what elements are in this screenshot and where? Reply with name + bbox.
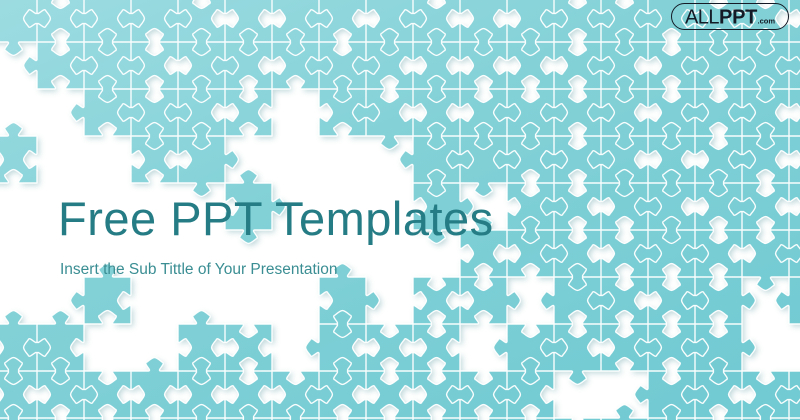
allppt-logo-text: ALL PPT .com xyxy=(685,7,775,27)
logo-all-text: ALL xyxy=(685,7,719,27)
title-block: Free PPT Templates Insert the Sub Tittle… xyxy=(58,192,578,279)
allppt-logo[interactable]: ALL PPT .com xyxy=(671,3,789,30)
logo-ppt-text: PPT xyxy=(719,7,757,27)
page-subtitle: Insert the Sub Tittle of Your Presentati… xyxy=(60,260,578,279)
slide-canvas: Free PPT Templates Insert the Sub Tittle… xyxy=(0,0,800,420)
logo-com-text: .com xyxy=(758,17,776,25)
page-title: Free PPT Templates xyxy=(58,192,578,246)
